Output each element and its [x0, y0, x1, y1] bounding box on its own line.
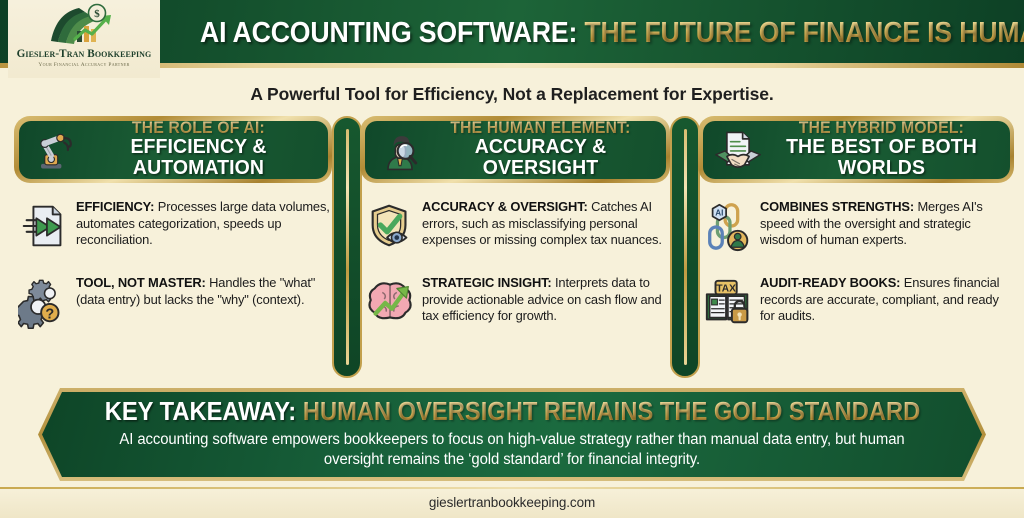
brain-growth-arrow-icon [360, 273, 422, 335]
list-item-text: AUDIT-READY BOOKS: Ensures financial rec… [760, 273, 1014, 325]
column-header-text: THE HYBRID MODEL: THE BEST OF BOTH WORLD… [765, 120, 1000, 179]
column-human-element: THE HUMAN ELEMENT: ACCURACY & OVERSIGHT [360, 116, 670, 349]
footer-bar: gieslertranbookkeeping.com [0, 487, 1024, 518]
column-header-frame: THE HYBRID MODEL: THE BEST OF BOTH WORLD… [698, 116, 1014, 183]
list-item-title: STRATEGIC INSIGHT: [422, 275, 552, 290]
column-header-line2: EFFICIENCY & AUTOMATION [86, 137, 309, 179]
column-role-of-ai: THE ROLE OF AI: EFFICIENCY & AUTOMATION [14, 116, 332, 349]
column-divider [670, 116, 700, 378]
shield-check-eye-icon [360, 197, 422, 259]
column-header-line2: ACCURACY & OVERSIGHT [432, 137, 648, 179]
subtitle: A Powerful Tool for Efficiency, Not a Re… [0, 84, 1024, 105]
page-title-accent: THE FUTURE OF FINANCE IS HUMAN-LED [584, 17, 1024, 49]
list-item: TAX AUDIT-READY BOOKS: Ensures financial… [698, 273, 1014, 335]
column-header-text: THE HUMAN ELEMENT: ACCURACY & OVERSIGHT [427, 120, 656, 179]
column-header-frame: THE ROLE OF AI: EFFICIENCY & AUTOMATION [14, 116, 332, 183]
column-header-frame: THE HUMAN ELEMENT: ACCURACY & OVERSIGHT [360, 116, 670, 183]
bullet-list: AI COMBINES STRENGTHS: Merges AI's speed… [698, 197, 1014, 335]
svg-text:AI: AI [715, 208, 723, 217]
list-item-title: TOOL, NOT MASTER: [76, 275, 206, 290]
growth-chart-dollar-logo-icon: $ [45, 3, 123, 47]
list-item: STRATEGIC INSIGHT: Interprets data to pr… [360, 273, 670, 335]
list-item-text: COMBINES STRENGTHS: Merges AI's speed wi… [760, 197, 1014, 249]
brand-name: Giesler-Tran Bookkeeping [17, 48, 152, 60]
column-header-line2: THE BEST OF BOTH WORLDS [770, 137, 991, 179]
column-header: THE HYBRID MODEL: THE BEST OF BOTH WORLD… [701, 119, 1012, 181]
tax-book-lock-icon: TAX [698, 273, 760, 335]
list-item: EFFICIENCY: Processes large data volumes… [14, 197, 332, 259]
bullet-list: ACCURACY & OVERSIGHT: Catches AI errors,… [360, 197, 670, 335]
svg-text:$: $ [94, 8, 100, 20]
robot-arm-icon [27, 127, 81, 173]
list-item-title: AUDIT-READY BOOKS: [760, 275, 900, 290]
gears-question-mark-icon: ? [14, 273, 76, 335]
svg-text:TAX: TAX [716, 283, 736, 294]
list-item-title: COMBINES STRENGTHS: [760, 199, 914, 214]
key-takeaway-inner: KEY TAKEAWAY: HUMAN OVERSIGHT REMAINS TH… [42, 392, 982, 477]
column-header-text: THE ROLE OF AI: EFFICIENCY & AUTOMATION [81, 120, 318, 179]
footer-website-url[interactable]: gieslertranbookkeeping.com [429, 495, 595, 510]
list-item-text: EFFICIENCY: Processes large data volumes… [76, 197, 332, 249]
list-item-text: TOOL, NOT MASTER: Handles the "what" (da… [76, 273, 332, 308]
key-takeaway-heading: KEY TAKEAWAY: HUMAN OVERSIGHT REMAINS TH… [104, 398, 920, 427]
infographic-root: AI ACCOUNTING SOFTWARE: THE FUTURE OF FI… [0, 0, 1024, 518]
list-item-title: ACCURACY & OVERSIGHT: [422, 199, 588, 214]
list-item-text: STRATEGIC INSIGHT: Interprets data to pr… [422, 273, 670, 325]
column-header: THE ROLE OF AI: EFFICIENCY & AUTOMATION [17, 119, 330, 181]
column-hybrid-model: THE HYBRID MODEL: THE BEST OF BOTH WORLD… [698, 116, 1014, 349]
svg-text:?: ? [45, 306, 54, 322]
list-item: ? TOOL, NOT MASTER: Handles the "what" (… [14, 273, 332, 335]
key-takeaway-banner: KEY TAKEAWAY: HUMAN OVERSIGHT REMAINS TH… [38, 388, 986, 481]
columns-container: THE ROLE OF AI: EFFICIENCY & AUTOMATION [0, 116, 1024, 378]
person-magnifying-glass-icon [373, 127, 427, 173]
list-item: AI COMBINES STRENGTHS: Merges AI's speed… [698, 197, 1014, 259]
page-title: AI ACCOUNTING SOFTWARE: THE FUTURE OF FI… [200, 17, 982, 50]
column-divider [332, 116, 362, 378]
list-item-title: EFFICIENCY: [76, 199, 154, 214]
brand-tagline: Your Financial Accuracy Partner [38, 62, 129, 68]
handshake-document-icon [711, 127, 765, 173]
bullet-list: EFFICIENCY: Processes large data volumes… [14, 197, 332, 335]
list-item-text: ACCURACY & OVERSIGHT: Catches AI errors,… [422, 197, 670, 249]
list-item: ACCURACY & OVERSIGHT: Catches AI errors,… [360, 197, 670, 259]
brand-logo[interactable]: $ Giesler-Tran Bookkeeping Your Financia… [8, 0, 160, 78]
ai-chain-link-person-icon: AI [698, 197, 760, 259]
key-takeaway-label: KEY TAKEAWAY: [104, 398, 296, 426]
document-fast-forward-icon [14, 197, 76, 259]
page-title-primary: AI ACCOUNTING SOFTWARE: [200, 17, 577, 49]
key-takeaway-body: AI accounting software empowers bookkeep… [105, 430, 919, 469]
key-takeaway-headline: HUMAN OVERSIGHT REMAINS THE GOLD STANDAR… [302, 398, 919, 426]
column-header: THE HUMAN ELEMENT: ACCURACY & OVERSIGHT [363, 119, 668, 181]
